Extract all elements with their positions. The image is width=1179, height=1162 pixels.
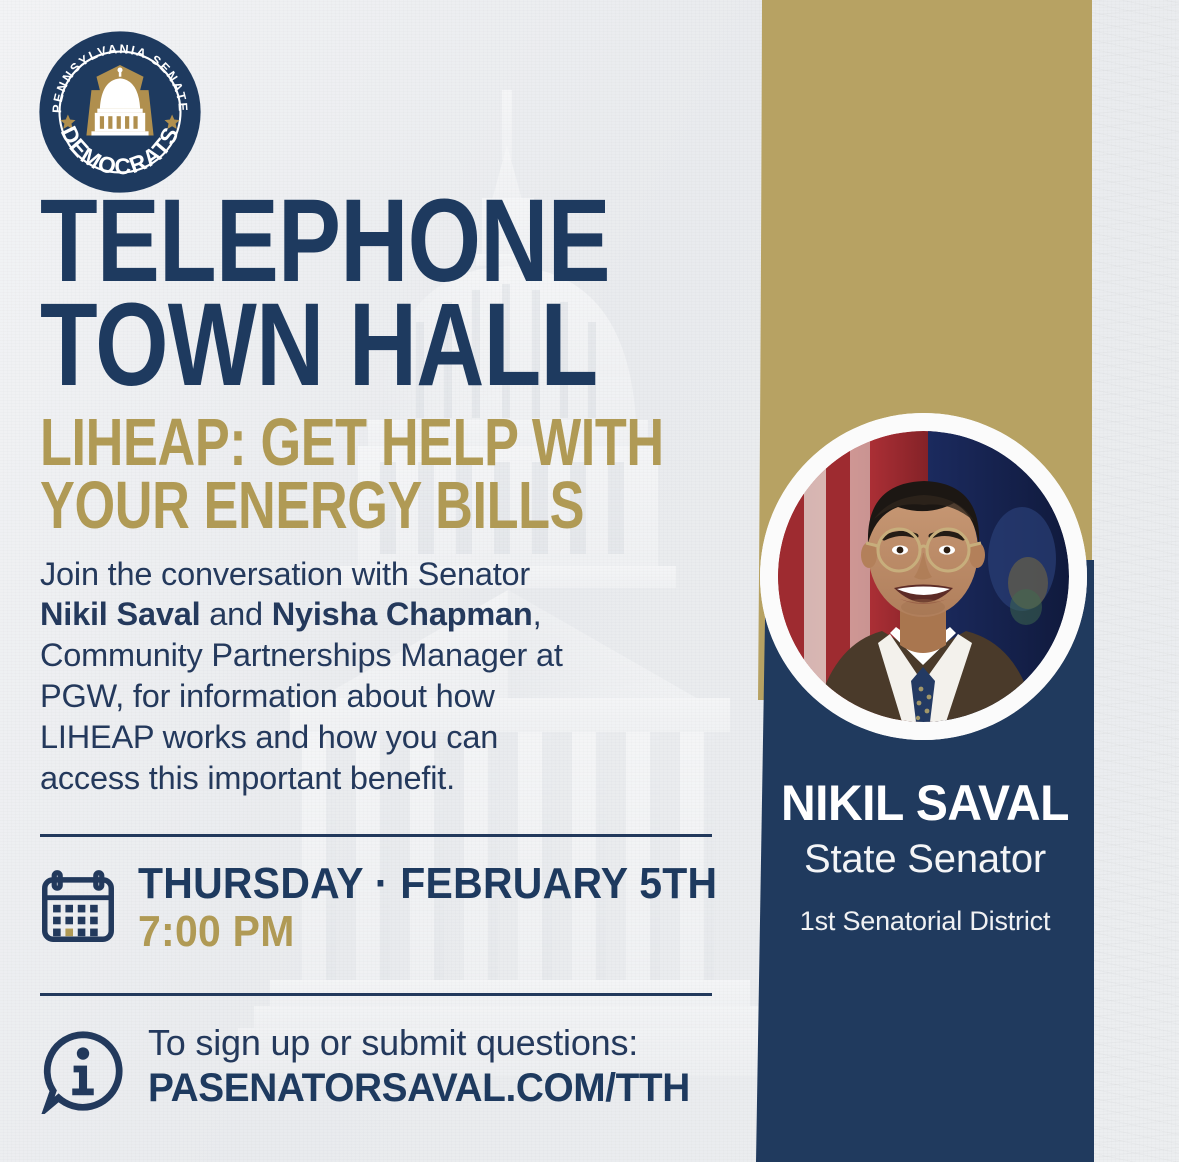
speaker-name-senator: Nikil Saval: [40, 596, 200, 632]
subhead-line-2: YOUR ENERGY BILLS: [40, 475, 570, 538]
info-bubble-icon: [40, 1028, 126, 1114]
subtitle: LIHEAP: GET HELP WITH YOUR ENERGY BILLS: [40, 412, 570, 538]
body-description: Join the conversation with Senator Nikil…: [40, 554, 585, 799]
event-date: THURSDAY · FEBRUARY 5TH: [138, 862, 717, 907]
speaker-name-guest: Nyisha Chapman: [272, 596, 533, 632]
divider-top: [40, 834, 712, 837]
page-title: TELEPHONE TOWN HALL: [40, 190, 584, 398]
signup-row: To sign up or submit questions: PASENATO…: [40, 1022, 760, 1114]
signup-url[interactable]: PASENATORSAVAL.COM/TTH: [148, 1066, 690, 1111]
senator-title: State Senator: [756, 834, 1094, 885]
pa-senate-democrats-logo: PENNSYLVANIA SENATE DEMOCRATS: [36, 28, 204, 196]
right-edge-texture: [1088, 0, 1179, 1162]
senator-portrait-frame: [760, 413, 1087, 740]
event-time: 7:00 PM: [138, 907, 717, 956]
senator-name: NIKIL SAVAL: [763, 778, 1087, 828]
main-content-column: TELEPHONE TOWN HALL LIHEAP: GET HELP WIT…: [40, 190, 720, 798]
event-datetime-row: THURSDAY · FEBRUARY 5TH 7:00 PM: [40, 862, 740, 956]
divider-bottom: [40, 993, 712, 996]
headline-line-2: TOWN HALL: [40, 294, 584, 398]
calendar-icon: [40, 868, 116, 944]
nikil-saval-portrait: [778, 431, 1069, 722]
signup-instruction: To sign up or submit questions:: [148, 1024, 707, 1063]
body-part-1: Join the conversation with Senator: [40, 556, 530, 592]
body-part-2: and: [200, 596, 271, 632]
senator-district: 1st Senatorial District: [756, 905, 1094, 937]
telephone-town-hall-flyer: PENNSYLVANIA SENATE DEMOCRATS TELEPHONE …: [0, 0, 1179, 1162]
senator-identity-block: NIKIL SAVAL State Senator 1st Senatorial…: [756, 778, 1094, 938]
